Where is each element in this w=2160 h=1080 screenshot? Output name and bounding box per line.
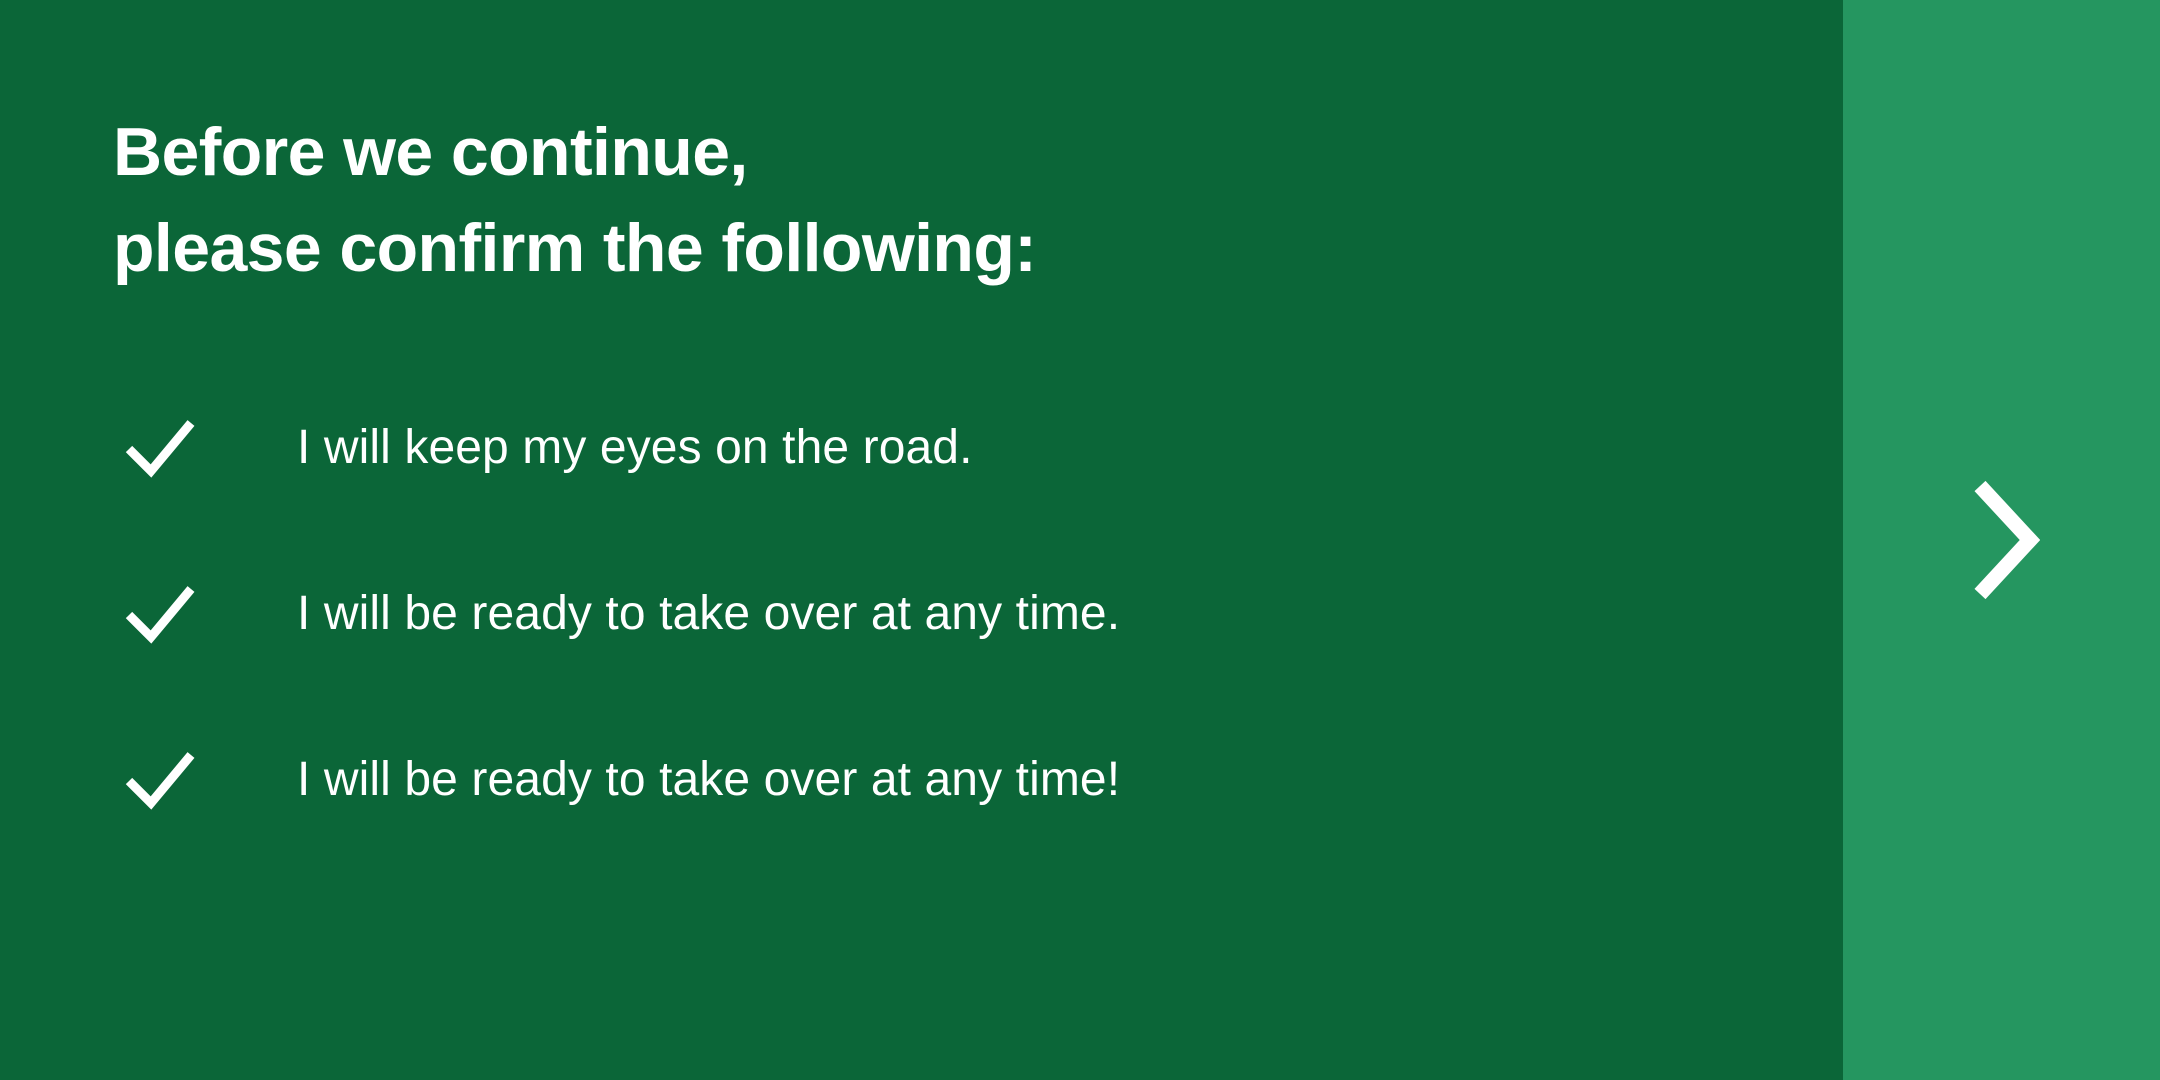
confirmation-checklist: I will keep my eyes on the road. I will … (113, 400, 1783, 828)
main-panel: Before we continue, please confirm the f… (0, 0, 1843, 1080)
page-title: Before we continue, please confirm the f… (113, 104, 1783, 296)
check-icon (121, 737, 207, 823)
content-block: Before we continue, please confirm the f… (113, 104, 1783, 828)
page-title-line-1: Before we continue, (113, 104, 1783, 200)
check-icon (121, 405, 207, 491)
checklist-item-label: I will be ready to take over at any time… (297, 585, 1120, 643)
checklist-item-label: I will be ready to take over at any time… (297, 751, 1120, 809)
check-icon (121, 571, 207, 657)
checklist-item[interactable]: I will keep my eyes on the road. (113, 400, 1783, 496)
next-button[interactable] (1843, 0, 2160, 1080)
confirmation-screen: Before we continue, please confirm the f… (0, 0, 2160, 1080)
page-title-line-2: please confirm the following: (113, 200, 1783, 296)
checklist-item[interactable]: I will be ready to take over at any time… (113, 566, 1783, 662)
checklist-item-label: I will keep my eyes on the road. (297, 419, 973, 477)
chevron-right-icon (1964, 478, 2040, 602)
checklist-item[interactable]: I will be ready to take over at any time… (113, 732, 1783, 828)
